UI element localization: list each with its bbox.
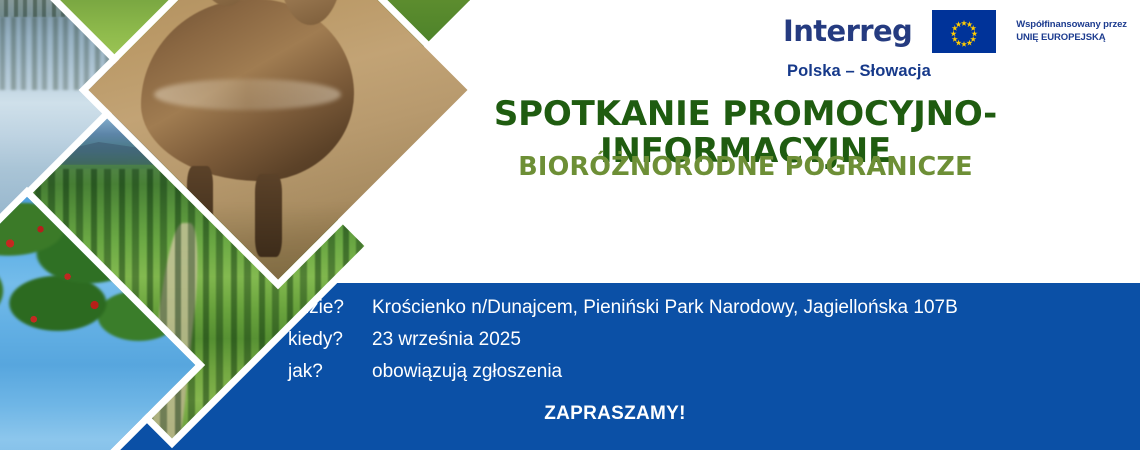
detail-value-how: obowiązują zgłoszenia: [372, 359, 562, 386]
detail-row-how: jak? obowiązują zgłoszenia: [288, 359, 958, 386]
detail-label-when: kiedy?: [288, 327, 372, 354]
detail-value-when: 23 września 2025: [372, 327, 521, 354]
event-subtitle: BIORÓŻNORODNE POGRANICZE: [373, 152, 1118, 182]
programme-name: Polska – Słowacja: [787, 62, 1113, 81]
eu-flag-icon: [932, 10, 996, 53]
eu-funding-text: Współfinansowany przez UNIĘ EUROPEJSKĄ: [1016, 19, 1127, 45]
eu-funding-line-2: UNIĘ EUROPEJSKĄ: [1016, 32, 1127, 45]
event-details: gdzie? Krościenko n/Dunajcem, Pieniński …: [288, 295, 958, 391]
detail-label-how: jak?: [288, 359, 372, 386]
detail-value-where: Krościenko n/Dunajcem, Pieniński Park Na…: [372, 295, 958, 322]
detail-row-where: gdzie? Krościenko n/Dunajcem, Pieniński …: [288, 295, 958, 322]
detail-row-when: kiedy? 23 września 2025: [288, 327, 958, 354]
interreg-wordmark: Interreg: [783, 17, 912, 46]
promo-banner: Interreg: [0, 0, 1140, 450]
eu-funding-line-1: Współfinansowany przez: [1016, 19, 1127, 32]
funding-logo-block: Interreg: [783, 10, 1113, 88]
